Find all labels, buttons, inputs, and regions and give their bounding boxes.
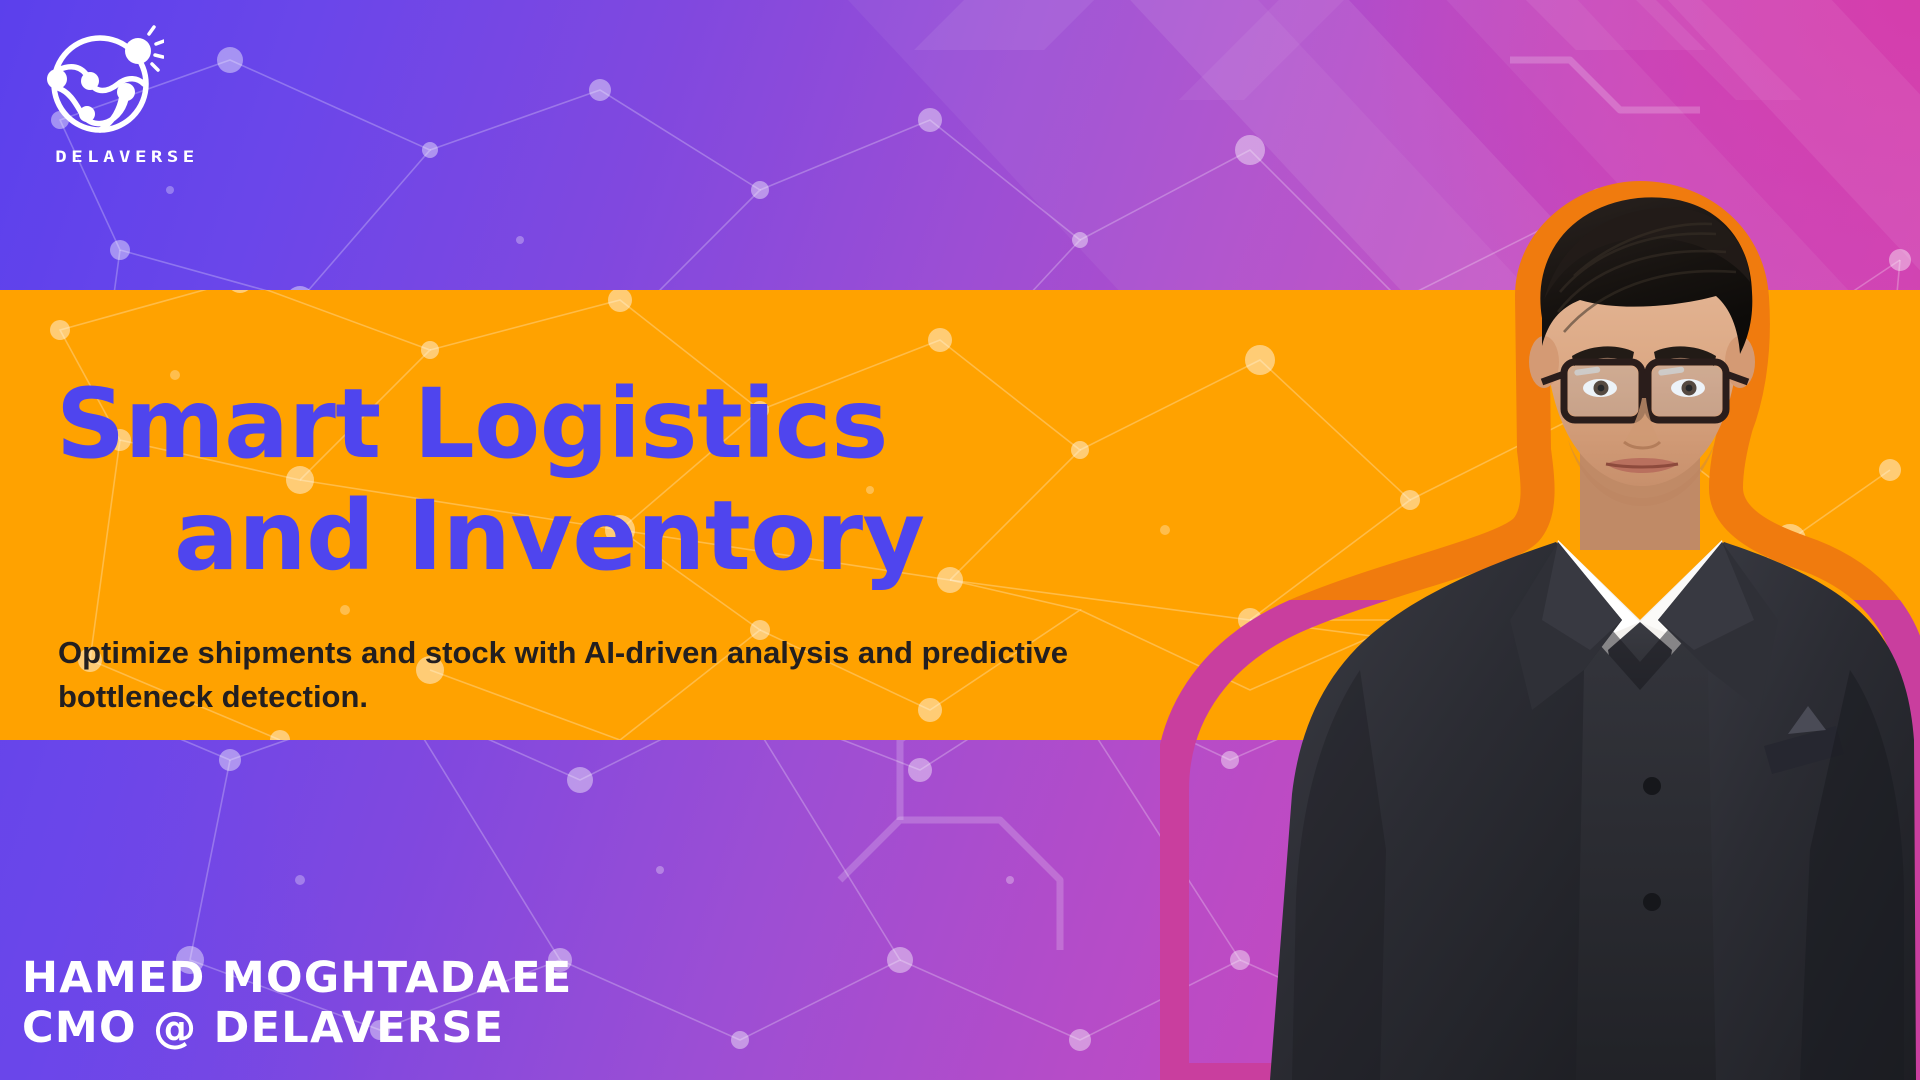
speaker-role: CMO @ DELAVERSE: [22, 1004, 573, 1054]
brand-logo[interactable]: DELAVERSE: [42, 22, 212, 168]
page-title: Smart Logistics and Inventory: [56, 369, 925, 592]
speaker-portrait: [1160, 150, 1920, 1080]
headline-line-1: Smart Logistics: [56, 369, 925, 480]
subtitle-text: Optimize shipments and stock with AI-dri…: [58, 631, 1148, 719]
globe-network-icon: [42, 22, 164, 144]
speaker-credit: HAMED MOGHTADAEE CMO @ DELAVERSE: [22, 954, 573, 1054]
headline-line-2: and Inventory: [174, 481, 925, 592]
portrait-illustration: [1160, 150, 1920, 1080]
speaker-name: HAMED MOGHTADAEE: [22, 954, 573, 1004]
brand-wordmark: DELAVERSE: [42, 148, 212, 166]
promo-banner: DELAVERSE Smart Logistics and Inventory …: [0, 0, 1920, 1080]
